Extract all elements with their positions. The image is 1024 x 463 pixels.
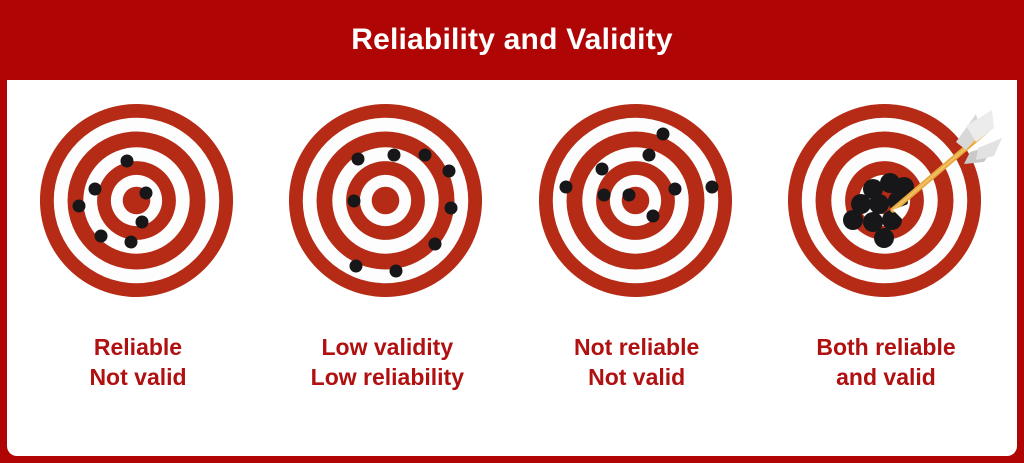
target-cell-2: Low validity Low reliability (264, 80, 510, 456)
bullseye-icon-2 (287, 102, 484, 299)
target-graphic-4 (786, 102, 986, 314)
target-graphic-1 (38, 102, 238, 314)
header-bar: Reliability and Validity (0, 0, 1024, 80)
content-panel: Reliable Not valid (7, 80, 1017, 456)
bullseye-icon-1 (38, 102, 235, 299)
target-cell-4: Both reliable and valid (763, 80, 1009, 456)
target-caption-2: Low validity Low reliability (311, 332, 464, 393)
bullseye-icon-3 (537, 102, 734, 299)
target-caption-3: Not reliable Not valid (574, 332, 699, 393)
target-cell-3: Not reliable Not valid (514, 80, 760, 456)
target-cell-1: Reliable Not valid (15, 80, 261, 456)
target-caption-1: Reliable Not valid (89, 332, 186, 393)
infographic-root: Reliability and Validity (0, 0, 1024, 463)
bullseye-icon-4 (786, 102, 983, 299)
target-caption-4: Both reliable and valid (816, 332, 955, 393)
target-graphic-3 (537, 102, 737, 314)
targets-row: Reliable Not valid (7, 80, 1017, 456)
page-title: Reliability and Validity (351, 25, 673, 55)
target-graphic-2 (287, 102, 487, 314)
